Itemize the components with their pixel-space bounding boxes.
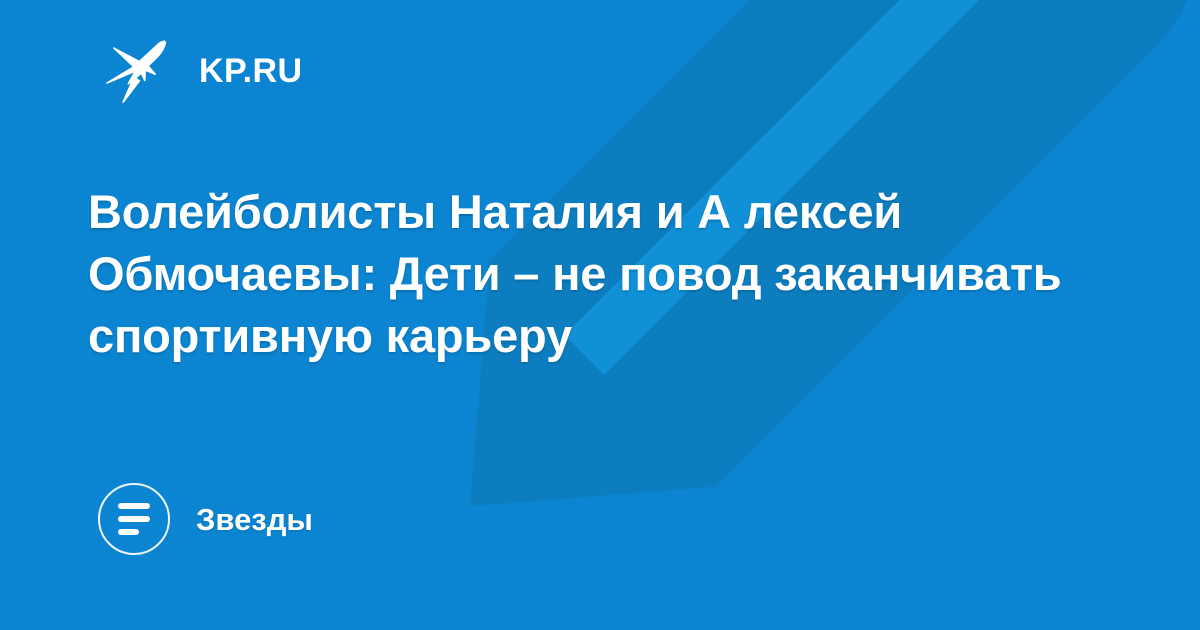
brand-name: KP.RU [199,54,302,88]
swallow-bird-icon [103,38,177,104]
list-line-3 [118,529,139,535]
list-line-1 [118,503,150,509]
category-badge[interactable]: Звезды [98,483,313,555]
list-lines-icon [98,483,170,555]
category-label: Звезды [196,504,313,535]
og-preview-card: KP.RU Волейболисты Наталия и А лексей Об… [0,0,1200,630]
list-line-2 [118,516,150,522]
brand-logo[interactable]: KP.RU [103,38,302,104]
page-title: Волейболисты Наталия и А лексей Обмочаев… [88,181,1098,367]
